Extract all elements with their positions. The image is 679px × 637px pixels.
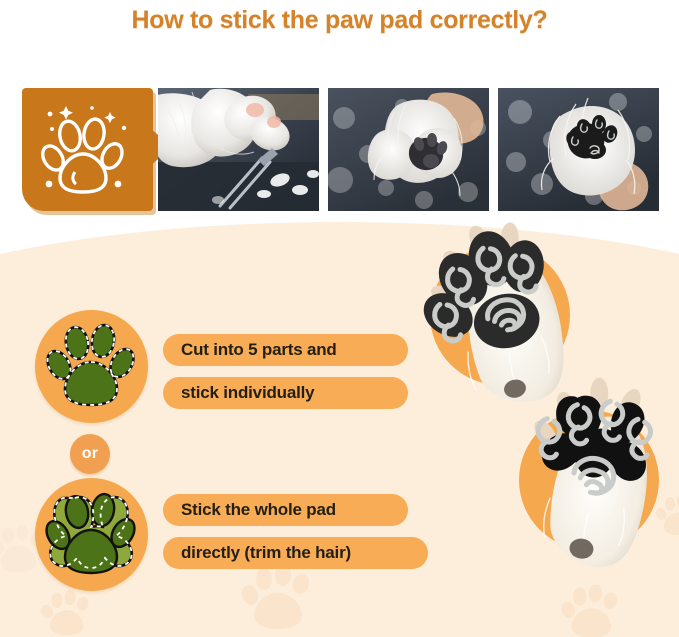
paw-cut-5-parts-badge <box>35 310 148 423</box>
option-1-line-1: Cut into 5 parts and <box>163 334 408 366</box>
photo-paw-whole-pad <box>519 410 659 550</box>
promo-image: How to stick the paw pad correctly? <box>0 0 679 637</box>
option-1-line-2: stick individually <box>163 377 408 409</box>
option-2-line-1: Stick the whole pad <box>163 494 408 526</box>
paw-whole-pad-icon <box>35 478 148 591</box>
paw-sparkle-badge <box>22 88 153 211</box>
paw-cut-5-parts-icon <box>35 310 148 423</box>
paw-whole-pad-badge <box>35 478 148 591</box>
paw-sparkle-icon <box>36 96 140 204</box>
photo-trimming-paw-hair <box>158 88 319 211</box>
or-badge: or <box>70 434 110 474</box>
option-2-line-2: directly (trim the hair) <box>163 537 428 569</box>
page-title: How to stick the paw pad correctly? <box>0 6 679 35</box>
